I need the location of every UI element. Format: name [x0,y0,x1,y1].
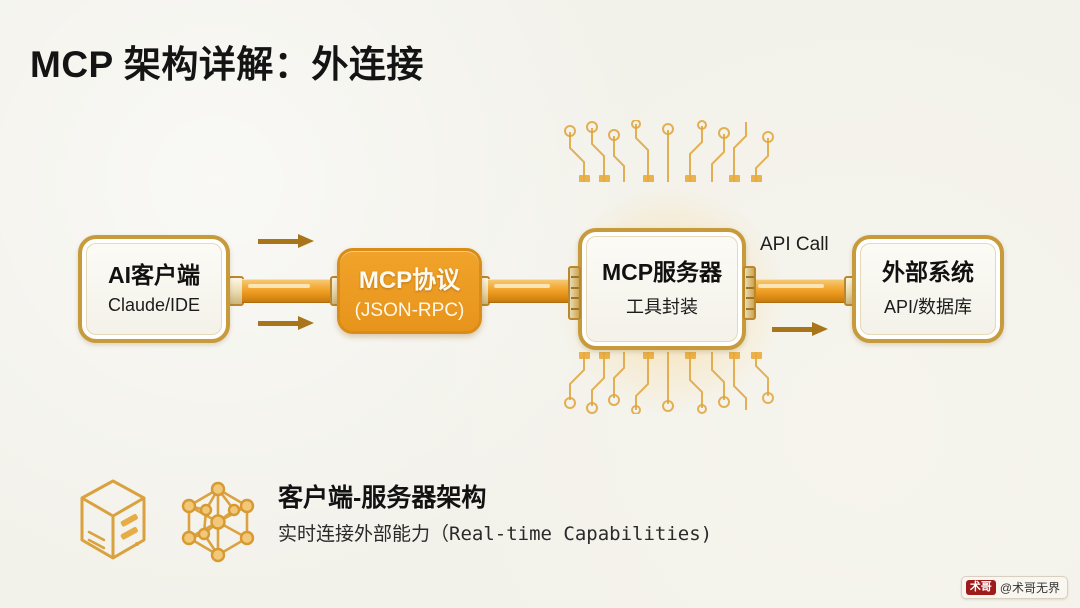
api-call-label: API Call [760,234,829,256]
cable-tube [242,279,332,303]
node-mcp-server-subtitle: 工具封装 [626,293,698,319]
node-external-system-title: 外部系统 [882,259,974,285]
node-ai-client[interactable]: AI客户端 Claude/IDE [78,235,230,343]
page-title: MCP 架构详解：外连接 [30,34,424,88]
arrow-right-icon [258,316,314,330]
watermark-badge: 术哥 [966,580,996,595]
arrow-right-icon [258,234,314,248]
footer-caption: 客户端-服务器架构 实时连接外部能力（Real-time Capabilitie… [0,468,1080,578]
watermark-handle: @术哥无界 [1000,582,1060,594]
node-mcp-protocol[interactable]: MCP协议 (JSON-RPC) [337,248,482,334]
footer-subtext: 实时连接外部能力（Real-time Capabilities) [278,519,712,546]
node-ai-client-subtitle: Claude/IDE [108,295,200,316]
cable-tube [488,279,572,303]
cable-tube [752,279,846,303]
server-rack-icon [74,476,152,569]
node-external-system-subtitle: API/数据库 [884,293,972,319]
circuit-trace-icon [556,352,786,414]
footer-heading: 客户端-服务器架构 [278,478,486,514]
node-mcp-server-title: MCP服务器 [602,259,722,285]
watermark: 术哥 @术哥无界 [961,576,1068,599]
chip-pins-right-icon [743,266,756,320]
node-mcp-protocol-subtitle: (JSON-RPC) [355,300,465,322]
cable-connector-icon [228,276,346,306]
cable-connector-icon [738,276,860,306]
node-mcp-server[interactable]: MCP服务器 工具封装 [578,228,746,350]
node-external-system[interactable]: 外部系统 API/数据库 [852,235,1004,343]
chip-pins-left-icon [568,266,581,320]
network-mesh-icon [176,480,260,569]
node-ai-client-title: AI客户端 [108,262,200,288]
node-mcp-protocol-title: MCP协议 [359,260,460,295]
arrow-right-icon [772,322,828,336]
architecture-diagram: AI客户端 Claude/IDE MCP协议 (JSON-RPC) MCP服务器… [0,150,1080,440]
circuit-trace-icon [556,120,786,182]
